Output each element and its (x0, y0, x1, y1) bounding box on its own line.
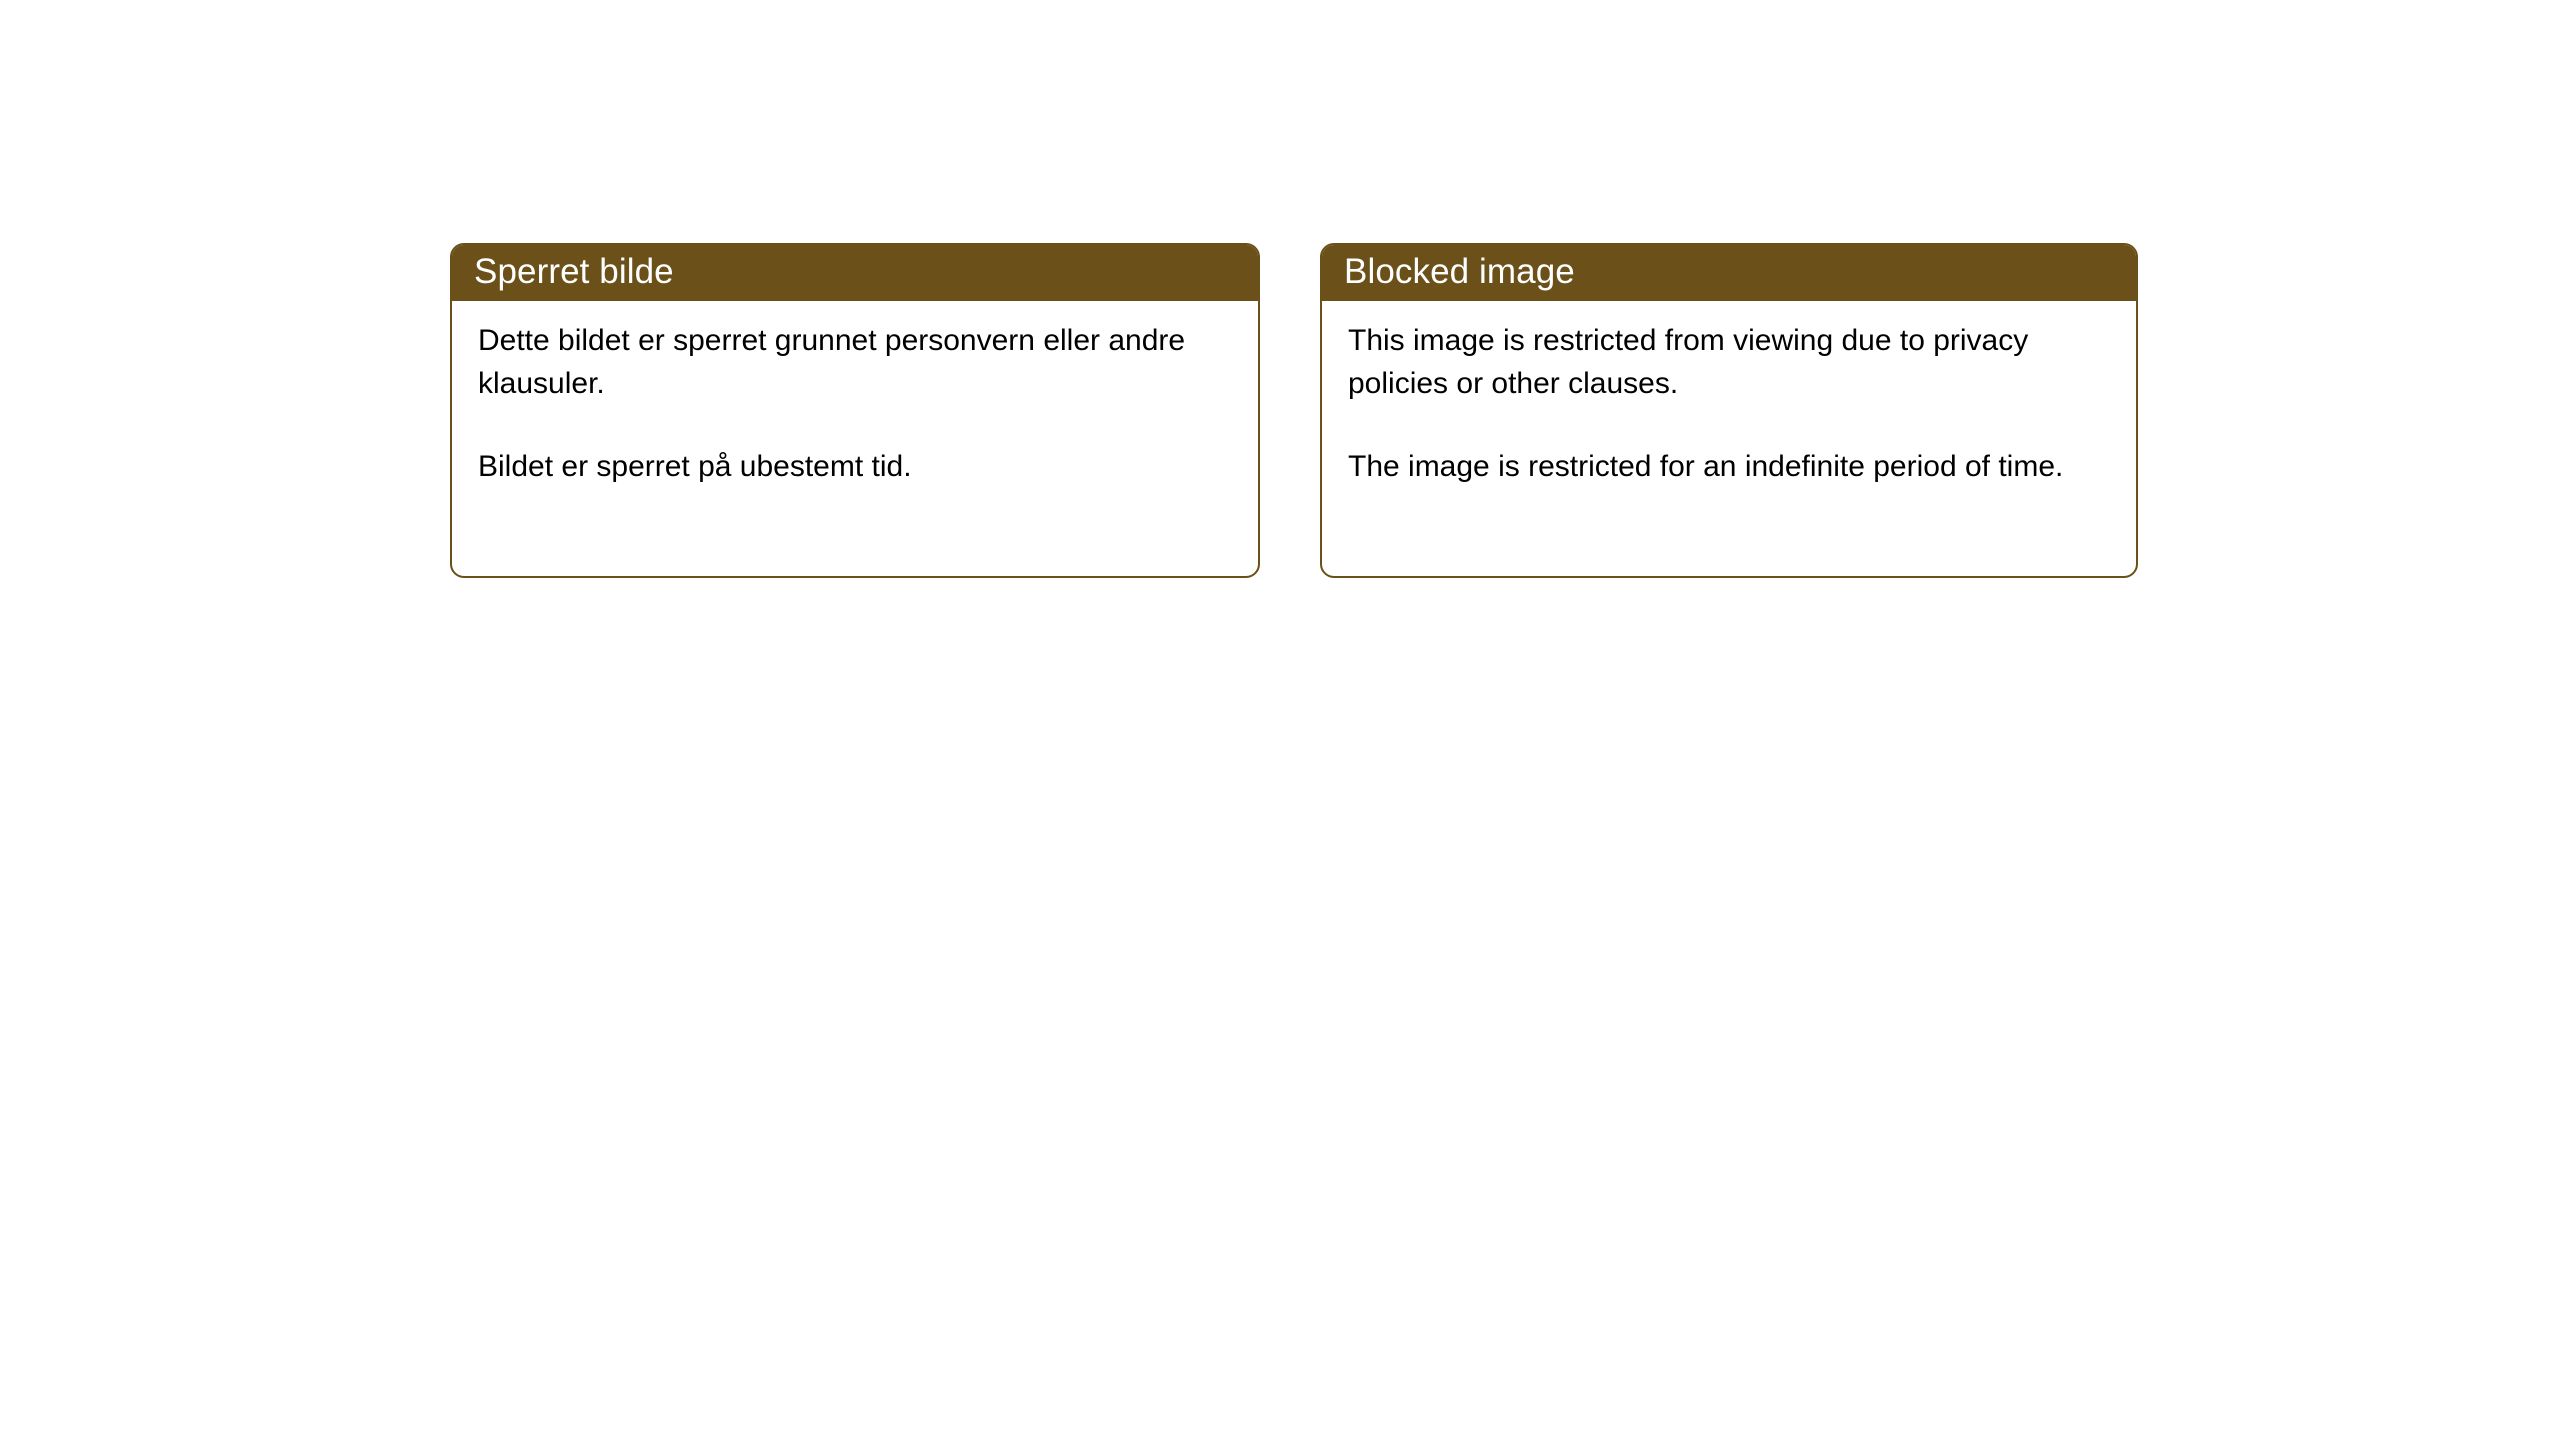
page-canvas: Sperret bilde Dette bildet er sperret gr… (0, 0, 2560, 1440)
panel-body-english: This image is restricted from viewing du… (1322, 301, 2136, 508)
panel-header-english: Blocked image (1320, 243, 2138, 301)
notice-paragraph-primary-english: This image is restricted from viewing du… (1348, 319, 2114, 405)
blocked-image-notice-norwegian: Sperret bilde Dette bildet er sperret gr… (450, 243, 1260, 578)
notice-paragraph-secondary-norwegian: Bildet er sperret på ubestemt tid. (478, 445, 1236, 488)
panel-title-english: Blocked image (1344, 252, 1575, 292)
panel-header-norwegian: Sperret bilde (450, 243, 1260, 301)
blocked-image-notice-english: Blocked image This image is restricted f… (1320, 243, 2138, 578)
notice-paragraph-secondary-english: The image is restricted for an indefinit… (1348, 445, 2114, 488)
panel-title-norwegian: Sperret bilde (474, 252, 674, 292)
notice-paragraph-primary-norwegian: Dette bildet er sperret grunnet personve… (478, 319, 1236, 405)
panel-body-norwegian: Dette bildet er sperret grunnet personve… (452, 301, 1258, 508)
